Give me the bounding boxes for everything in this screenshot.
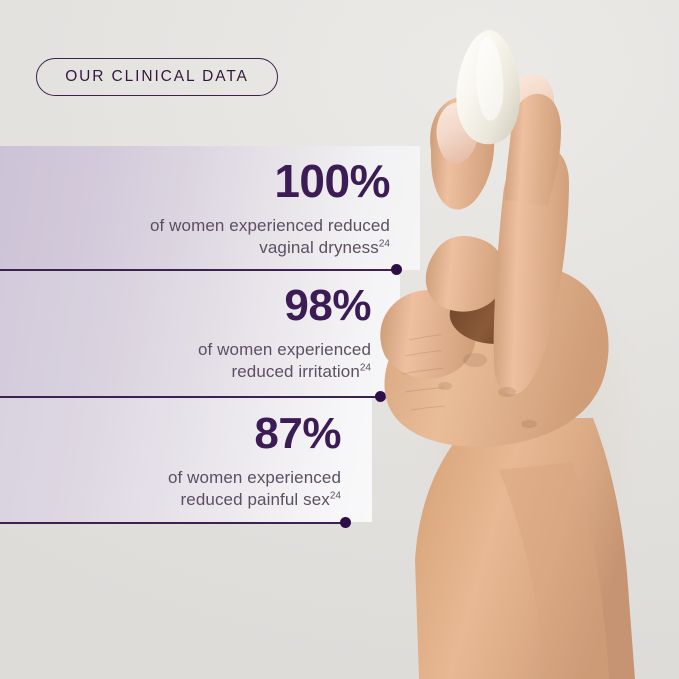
hand-illustration — [379, 0, 679, 679]
stat-value-painful-sex: 87% — [0, 412, 341, 456]
stat-value-irritation: 98% — [0, 284, 371, 328]
stat-desc-line-2: vaginal dryness — [259, 238, 379, 257]
stat-rule-dot-irritation — [375, 391, 386, 402]
skin-texture — [403, 333, 535, 412]
stat-desc-line-1: of women experienced — [198, 340, 371, 359]
stat-band-irritation: 98% of women experienced reduced irritat… — [0, 271, 400, 396]
stat-desc-line-1: of women experienced reduced — [150, 216, 390, 235]
stat-band-painful-sex: 87% of women experienced reduced painful… — [0, 397, 372, 522]
stat-description-irritation: of women experienced reduced irritation2… — [0, 339, 371, 384]
thumbnail — [437, 102, 479, 163]
stat-footnote-marker: 24 — [330, 491, 341, 502]
stat-rule-irritation — [0, 396, 380, 398]
stat-desc-line-1: of women experienced — [168, 468, 341, 487]
curled-fingers — [426, 236, 505, 312]
hand-back — [384, 263, 608, 447]
index-finger — [494, 145, 569, 394]
stat-content-100: 100% of women experienced reduced vagina… — [0, 146, 390, 260]
clinical-data-infographic: OUR CLINICAL DATA 100% of women experien… — [0, 0, 679, 679]
ovule-product — [456, 30, 520, 144]
stat-description-painful-sex: of women experienced reduced painful sex… — [0, 467, 341, 512]
stat-description-vaginal-dryness: of women experienced reduced vaginal dry… — [0, 215, 390, 260]
stat-rule-dot-vaginal-dryness — [391, 264, 402, 275]
ovule-highlight — [476, 36, 503, 121]
stat-rule-vaginal-dryness — [0, 269, 396, 271]
skin-spots — [438, 353, 537, 428]
stat-rule-dot-painful-sex — [340, 517, 351, 528]
stat-band-vaginal-dryness: 100% of women experienced reduced vagina… — [0, 146, 420, 270]
stat-desc-line-2: reduced irritation — [231, 362, 359, 381]
stat-footnote-marker: 24 — [360, 363, 371, 374]
hand-shadow — [409, 245, 649, 595]
stat-desc-line-2: reduced painful sex — [181, 490, 330, 509]
stat-value-vaginal-dryness: 100% — [0, 158, 390, 204]
thumb-tip — [430, 97, 494, 210]
hand-holding-ovule-photo — [379, 0, 679, 679]
stat-footnote-marker: 24 — [379, 239, 390, 250]
forearm — [415, 418, 635, 679]
stat-content-98: 98% of women experienced reduced irritat… — [0, 271, 371, 384]
clinical-data-badge-label: OUR CLINICAL DATA — [65, 68, 249, 86]
stat-rule-painful-sex — [0, 522, 345, 524]
clinical-data-badge: OUR CLINICAL DATA — [36, 58, 278, 96]
finger-gap-shadow — [450, 288, 535, 344]
stat-content-87: 87% of women experienced reduced painful… — [0, 397, 341, 512]
index-finger-tip — [505, 94, 561, 206]
index-fingernail — [514, 74, 554, 138]
forearm-shade — [499, 462, 609, 679]
